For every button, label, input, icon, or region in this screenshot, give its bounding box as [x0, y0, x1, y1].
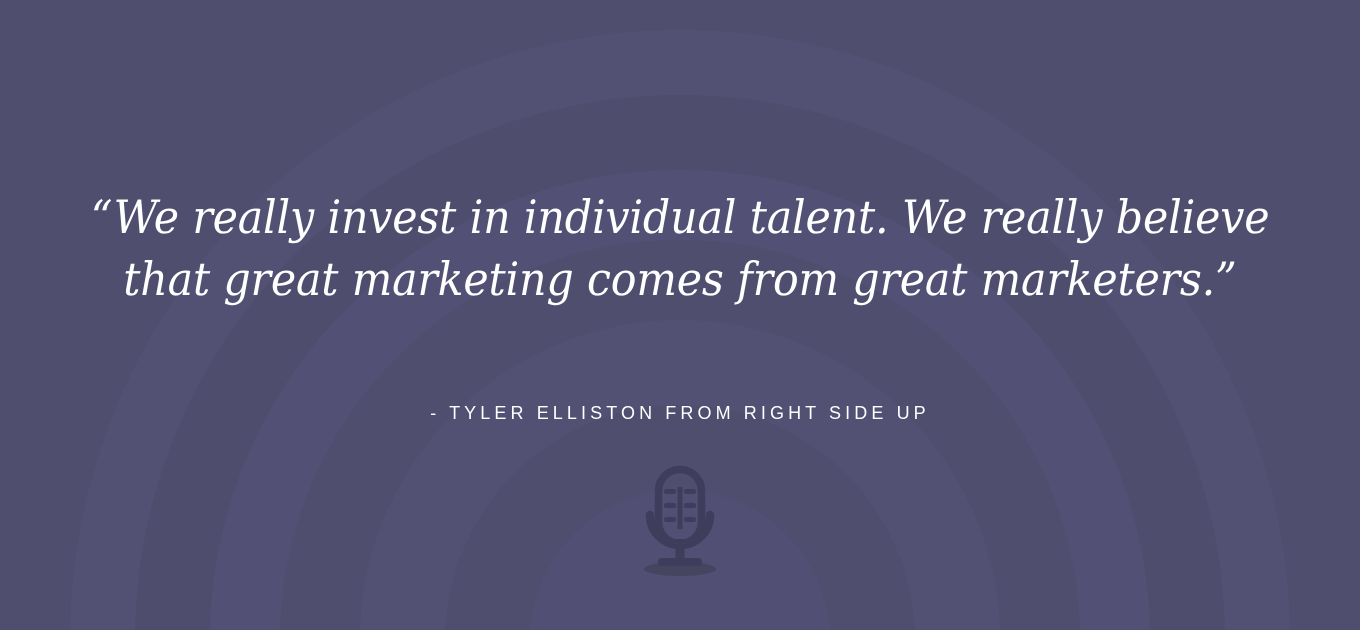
- quote-content: “We really invest in individual talent. …: [0, 0, 1360, 630]
- quote-line-2: that great marketing comes from great ma…: [48, 248, 1313, 310]
- quote-card: “We really invest in individual talent. …: [0, 0, 1360, 630]
- quote-attribution: - TYLER ELLISTON FROM RIGHT SIDE UP: [0, 401, 1360, 425]
- microphone-icon-wrapper: [620, 455, 740, 580]
- microphone-icon: [620, 455, 740, 580]
- quote-text: “We really invest in individual talent. …: [48, 186, 1313, 310]
- quote-line-1: “We really invest in individual talent. …: [48, 186, 1313, 248]
